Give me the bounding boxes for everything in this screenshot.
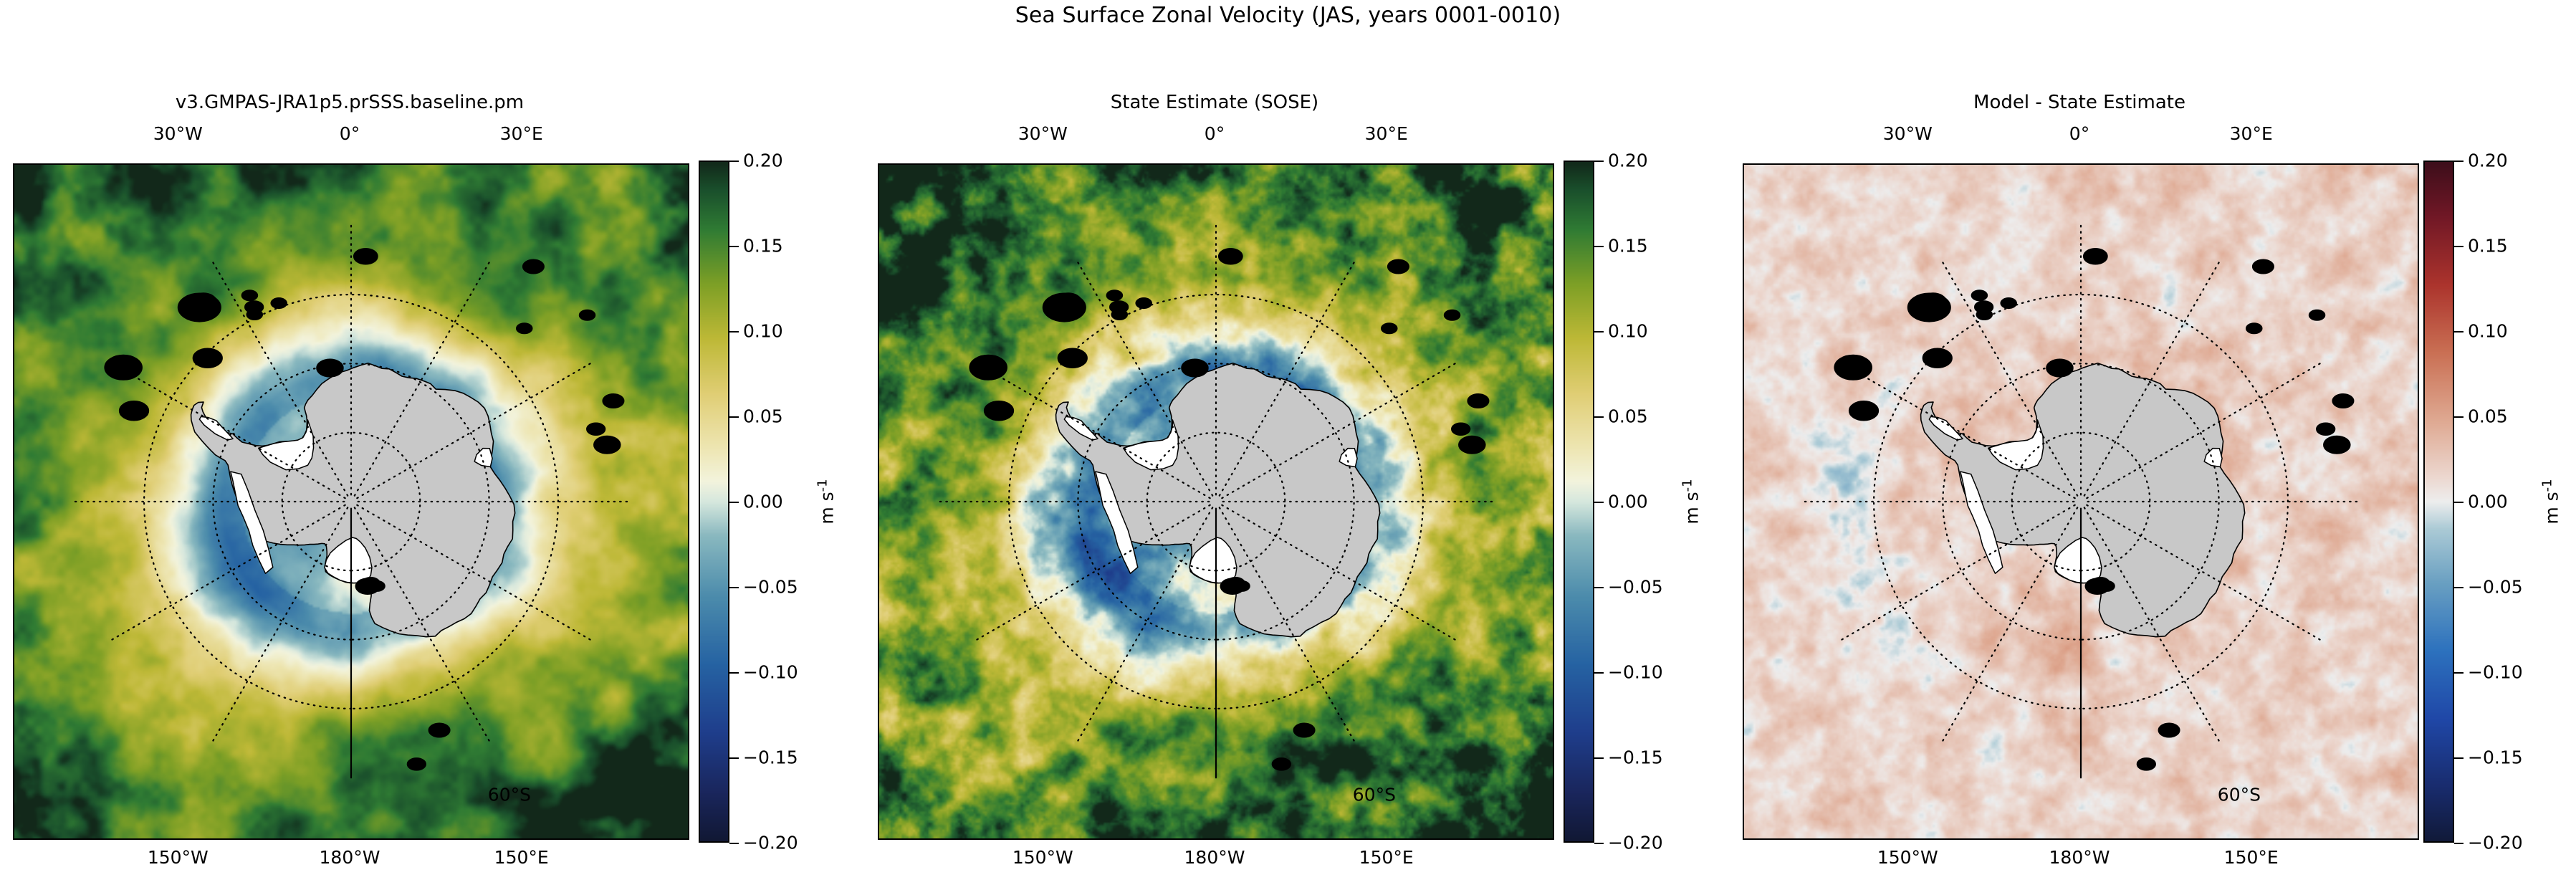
colorbar-unit-base-difference: m s (2542, 492, 2562, 524)
colorbar-unit-exponent-sose: -1 (1680, 479, 1695, 492)
lon-label-top-2: 30°E (500, 123, 543, 144)
lon-label-bottom-0: 150°W (1012, 847, 1073, 868)
colorbar-tick-difference-5 (2454, 587, 2464, 588)
colorbar-ticklabel-model-0: 0.20 (743, 150, 783, 171)
colorbar-tick-model-5 (729, 587, 739, 588)
map-inner-sose: 60°S (879, 165, 1553, 838)
colorbar-ticklabel-model-4: 0.00 (743, 492, 783, 512)
colorbar-ticklabel-model-3: 0.05 (743, 406, 783, 427)
lon-label-bottom-0: 150°W (148, 847, 209, 868)
colorbar-ticklabel-difference-4: 0.00 (2468, 492, 2508, 512)
colorbar-ticklabel-sose-1: 0.15 (1608, 236, 1648, 257)
colorbar-ticklabel-difference-6: −0.10 (2468, 662, 2523, 683)
colorbar-tick-sose-8 (1594, 843, 1604, 844)
figure-suptitle: Sea Surface Zonal Velocity (JAS, years 0… (0, 3, 2576, 28)
map-axes-difference[interactable]: 60°S (1743, 163, 2419, 840)
colorbar-ticklabel-sose-7: −0.15 (1608, 747, 1663, 768)
colorbar-ticklabel-sose-2: 0.10 (1608, 321, 1648, 342)
map-axes-sose[interactable]: 60°S (878, 163, 1554, 840)
map-axes-model[interactable]: 60°S (13, 163, 689, 840)
gridlines-model (14, 165, 688, 838)
lon-label-top-1: 0° (1205, 123, 1225, 144)
colorbar-tick-sose-7 (1594, 757, 1604, 759)
colorbar-ticklabel-difference-2: 0.10 (2468, 321, 2508, 342)
colorbar-tick-difference-7 (2454, 757, 2464, 759)
colorbar-sose[interactable]: 0.200.150.100.050.00−0.05−0.10−0.15−0.20… (1564, 161, 1594, 843)
colorbar-ticklabel-sose-0: 0.20 (1608, 150, 1648, 171)
panel-title-difference: Model - State Estimate (1743, 92, 2416, 113)
lon-label-bottom-1: 180°W (2049, 847, 2110, 868)
colorbar-ticklabel-difference-3: 0.05 (2468, 406, 2508, 427)
colorbar-unit-base-sose: m s (1682, 492, 1703, 524)
colorbar-tick-sose-5 (1594, 587, 1604, 588)
lon-label-bottom-0: 150°W (1877, 847, 1938, 868)
colorbar-ticklabel-sose-4: 0.00 (1608, 492, 1648, 512)
lon-label-top-2: 30°E (2230, 123, 2273, 144)
colorbar-tick-difference-8 (2454, 843, 2464, 844)
colorbar-tick-model-3 (729, 416, 739, 418)
lon-label-top-1: 0° (340, 123, 360, 144)
colorbar-ticklabel-model-8: −0.20 (743, 833, 798, 853)
colorbar-tick-difference-4 (2454, 502, 2464, 503)
colorbar-tick-model-4 (729, 502, 739, 503)
figure-canvas: Sea Surface Zonal Velocity (JAS, years 0… (0, 0, 2576, 890)
colorbar-unit-base-model: m s (817, 492, 838, 524)
colorbar-tick-model-2 (729, 331, 739, 332)
colorbar-model[interactable]: 0.200.150.100.050.00−0.05−0.10−0.15−0.20… (699, 161, 729, 843)
colorbar-tick-sose-0 (1594, 161, 1604, 162)
colorbar-tick-sose-6 (1594, 672, 1604, 674)
colorbar-ticklabel-model-6: −0.10 (743, 662, 798, 683)
lon-label-top-1: 0° (2069, 123, 2089, 144)
colorbar-ticklabel-sose-3: 0.05 (1608, 406, 1648, 427)
colorbar-tick-difference-1 (2454, 246, 2464, 247)
panel-title-sose: State Estimate (SOSE) (878, 92, 1551, 113)
colorbar-unit-label-difference: m s-1 (2539, 479, 2562, 524)
colorbar-tick-sose-2 (1594, 331, 1604, 332)
lon-label-top-0: 30°W (1883, 123, 1933, 144)
colorbar-ticklabel-difference-8: −0.20 (2468, 833, 2523, 853)
colorbar-ticklabel-model-5: −0.05 (743, 577, 798, 598)
colorbar-ticklabel-model-2: 0.10 (743, 321, 783, 342)
lon-label-bottom-2: 150°E (1359, 847, 1414, 868)
lat-label-60s-sose: 60°S (1353, 784, 1396, 805)
lat-label-60s-difference: 60°S (2218, 784, 2261, 805)
colorbar-tick-model-7 (729, 757, 739, 759)
lon-label-bottom-1: 180°W (320, 847, 380, 868)
colorbar-gradient-sose (1564, 161, 1594, 843)
colorbar-tick-difference-3 (2454, 416, 2464, 418)
colorbar-unit-exponent-model: -1 (815, 479, 830, 492)
gridlines-sose (879, 165, 1553, 838)
colorbar-unit-label-model: m s-1 (815, 479, 837, 524)
colorbar-tick-model-0 (729, 161, 739, 162)
colorbar-ticklabel-model-7: −0.15 (743, 747, 798, 768)
colorbar-tick-difference-2 (2454, 331, 2464, 332)
colorbar-tick-model-8 (729, 843, 739, 844)
lon-label-bottom-2: 150°E (494, 847, 549, 868)
colorbar-ticklabel-difference-5: −0.05 (2468, 577, 2523, 598)
colorbar-ticklabel-sose-8: −0.20 (1608, 833, 1663, 853)
colorbar-gradient-difference (2423, 161, 2454, 843)
colorbar-ticklabel-difference-7: −0.15 (2468, 747, 2523, 768)
panel-title-model: v3.GMPAS-JRA1p5.prSSS.baseline.pm (13, 92, 686, 113)
colorbar-ticklabel-model-1: 0.15 (743, 236, 783, 257)
colorbar-tick-sose-4 (1594, 502, 1604, 503)
colorbar-tick-difference-6 (2454, 672, 2464, 674)
map-inner-model: 60°S (14, 165, 688, 838)
colorbar-difference[interactable]: 0.200.150.100.050.00−0.05−0.10−0.15−0.20… (2423, 161, 2454, 843)
colorbar-tick-model-1 (729, 246, 739, 247)
lon-label-bottom-1: 180°W (1184, 847, 1245, 868)
colorbar-tick-sose-3 (1594, 416, 1604, 418)
map-inner-difference: 60°S (1744, 165, 2418, 838)
lon-label-top-0: 30°W (153, 123, 203, 144)
colorbar-ticklabel-difference-1: 0.15 (2468, 236, 2508, 257)
colorbar-ticklabel-sose-6: −0.10 (1608, 662, 1663, 683)
colorbar-ticklabel-sose-5: −0.05 (1608, 577, 1663, 598)
colorbar-gradient-model (699, 161, 729, 843)
colorbar-tick-sose-1 (1594, 246, 1604, 247)
lon-label-bottom-2: 150°E (2224, 847, 2279, 868)
lat-label-60s-model: 60°S (488, 784, 531, 805)
colorbar-tick-difference-0 (2454, 161, 2464, 162)
colorbar-ticklabel-difference-0: 0.20 (2468, 150, 2508, 171)
gridlines-difference (1744, 165, 2418, 838)
colorbar-unit-exponent-difference: -1 (2539, 479, 2555, 492)
colorbar-tick-model-6 (729, 672, 739, 674)
lon-label-top-2: 30°E (1365, 123, 1408, 144)
colorbar-unit-label-sose: m s-1 (1680, 479, 1702, 524)
lon-label-top-0: 30°W (1018, 123, 1068, 144)
